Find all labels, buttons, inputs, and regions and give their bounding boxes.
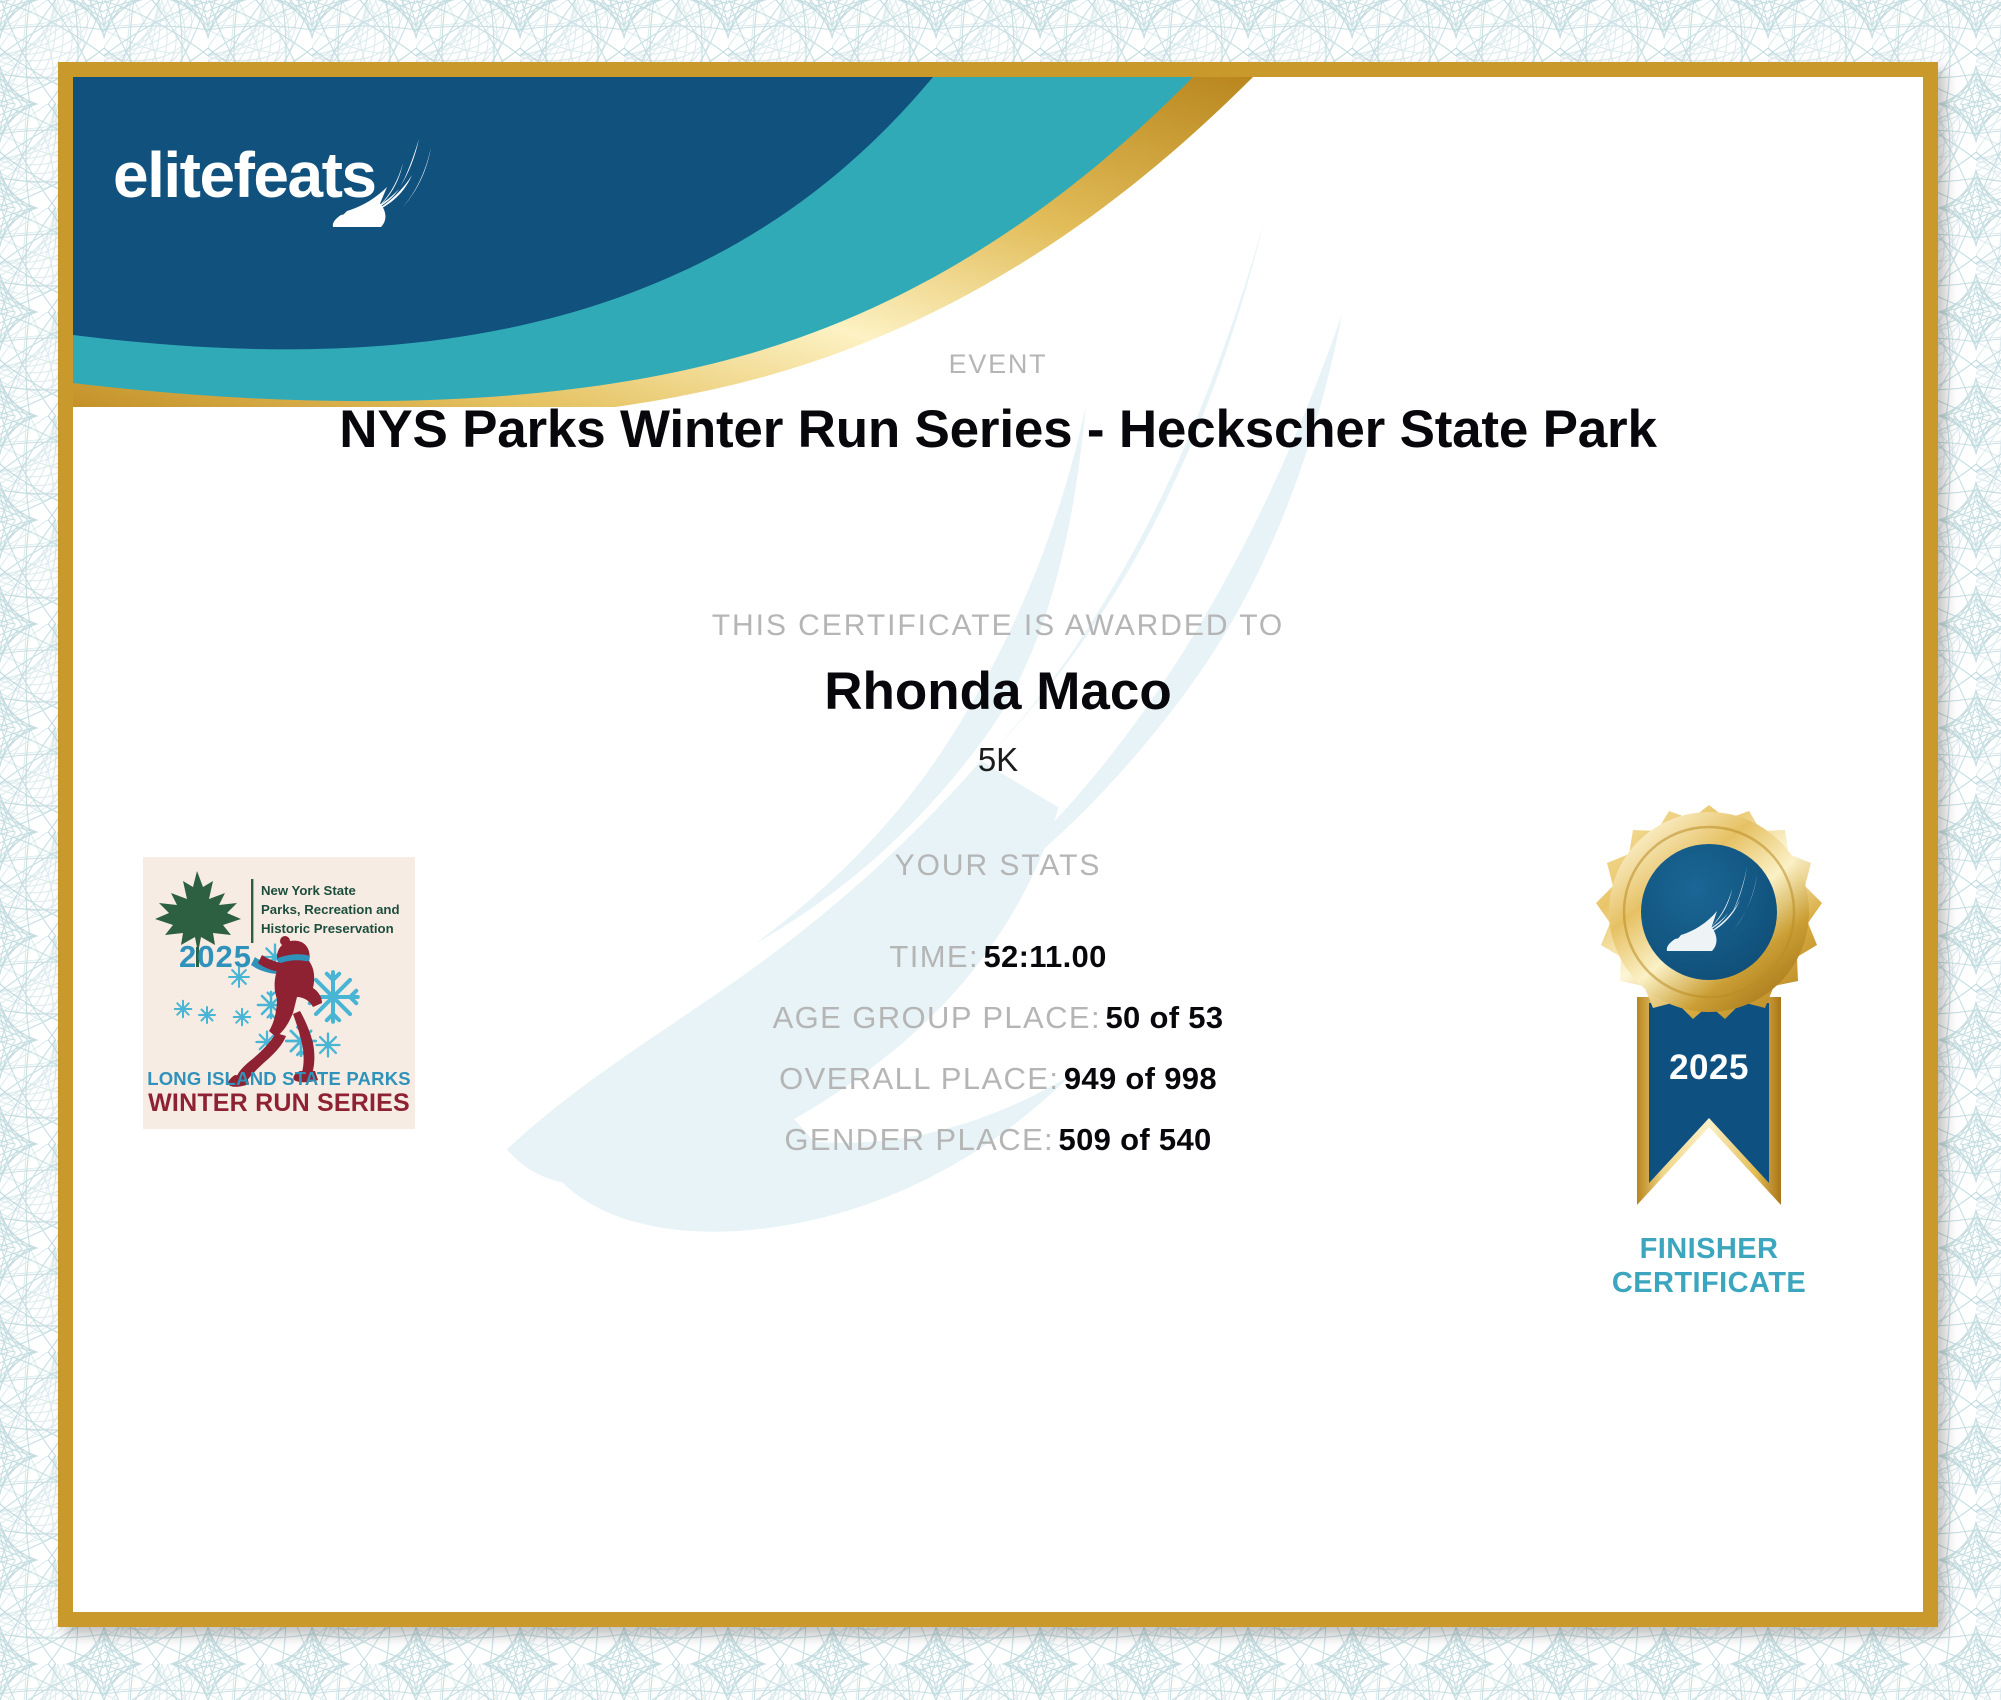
winter-run-series-badge: New York State Parks, Recreation and His… (143, 857, 415, 1129)
medal-year: 2025 (1669, 1048, 1749, 1087)
certificate-canvas: elitefeats EVENT NYS Parks Winter Run Se… (73, 77, 1923, 1612)
stat-key: AGE GROUP PLACE: (773, 1000, 1101, 1035)
agency-line-1: New York State (261, 883, 356, 898)
awarded-to-label: THIS CERTIFICATE IS AWARDED TO (73, 609, 1923, 643)
agency-line-2: Parks, Recreation and (261, 902, 400, 917)
stat-value: 52:11.00 (983, 939, 1106, 974)
badge-title-line-2: WINTER RUN SERIES (148, 1089, 410, 1117)
elitefeats-logo: elitefeats (113, 125, 463, 230)
finisher-caption-line-1: FINISHER (1569, 1233, 1849, 1267)
agency-line-3: Historic Preservation (261, 921, 394, 936)
stat-key: GENDER PLACE: (784, 1122, 1054, 1157)
certificate-page: elitefeats EVENT NYS Parks Winter Run Se… (0, 0, 2001, 1700)
certificate-frame: elitefeats EVENT NYS Parks Winter Run Se… (58, 62, 1938, 1627)
recipient-name: Rhonda Maco (73, 661, 1923, 722)
finisher-medal: 2025 (1569, 797, 1849, 1237)
medal-ribbon: 2025 (1637, 997, 1781, 1205)
badge-year: 2025 (179, 939, 252, 974)
event-title: NYS Parks Winter Run Series - Heckscher … (73, 399, 1923, 460)
stat-value: 509 of 540 (1059, 1122, 1212, 1157)
stat-key: TIME: (889, 939, 979, 974)
stat-value: 949 of 998 (1064, 1061, 1217, 1096)
stat-key: OVERALL PLACE: (779, 1061, 1059, 1096)
finisher-caption: FINISHER CERTIFICATE (1569, 1233, 1849, 1301)
badge-title-line-1: LONG ISLAND STATE PARKS (147, 1068, 411, 1089)
finisher-caption-line-2: CERTIFICATE (1569, 1267, 1849, 1301)
medal-starburst (1596, 805, 1822, 1019)
event-label: EVENT (73, 349, 1923, 380)
brand-wordmark: elitefeats (113, 139, 375, 211)
stat-value: 50 of 53 (1105, 1000, 1223, 1035)
race-distance: 5K (73, 741, 1923, 779)
